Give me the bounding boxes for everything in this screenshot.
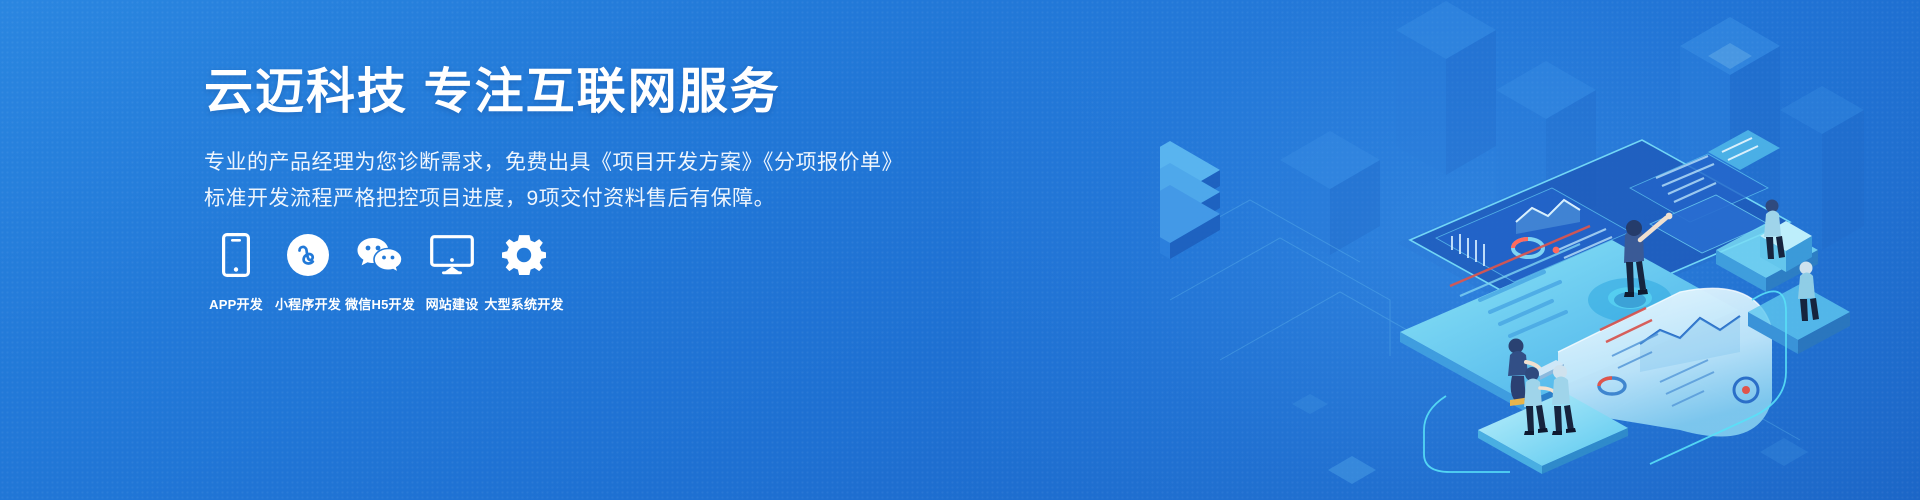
wechat-icon (356, 232, 404, 278)
service-item-large-system[interactable]: 大型系统开发 (488, 232, 560, 313)
service-label: 小程序开发 (275, 294, 341, 313)
service-item-website[interactable]: 网站建设 (416, 232, 488, 313)
gear-icon (502, 232, 546, 278)
hero-banner: 云迈科技 专注互联网服务 专业的产品经理为您诊断需求，免费出具《项目开发方案》《… (0, 0, 1920, 500)
service-label: 网站建设 (426, 294, 479, 313)
service-label: APP开发 (209, 294, 263, 313)
service-list: APP开发 小程序开发 微信 (200, 232, 560, 313)
service-label: 微信H5开发 (345, 294, 415, 313)
service-label: 大型系统开发 (484, 294, 563, 313)
server-stack-icon (1160, 141, 1220, 259)
banner-subtitle-line-2: 标准开发流程严格把控项目进度，9项交付资料售后有保障。 (204, 182, 924, 216)
banner-text-block: 云迈科技 专注互联网服务 专业的产品经理为您诊断需求，免费出具《项目开发方案》《… (204, 64, 924, 216)
isometric-tech-illustration (1160, 0, 1920, 500)
banner-subtitle-line-1: 专业的产品经理为您诊断需求，免费出具《项目开发方案》《分项报价单》 (204, 146, 924, 180)
service-item-wechat-h5[interactable]: 微信H5开发 (344, 232, 416, 313)
desktop-monitor-icon (430, 232, 474, 278)
mobile-phone-icon (222, 232, 250, 278)
service-item-app[interactable]: APP开发 (200, 232, 272, 313)
banner-headline: 云迈科技 专注互联网服务 (204, 64, 924, 122)
mini-program-icon (286, 232, 330, 278)
service-item-mini-program[interactable]: 小程序开发 (272, 232, 344, 313)
